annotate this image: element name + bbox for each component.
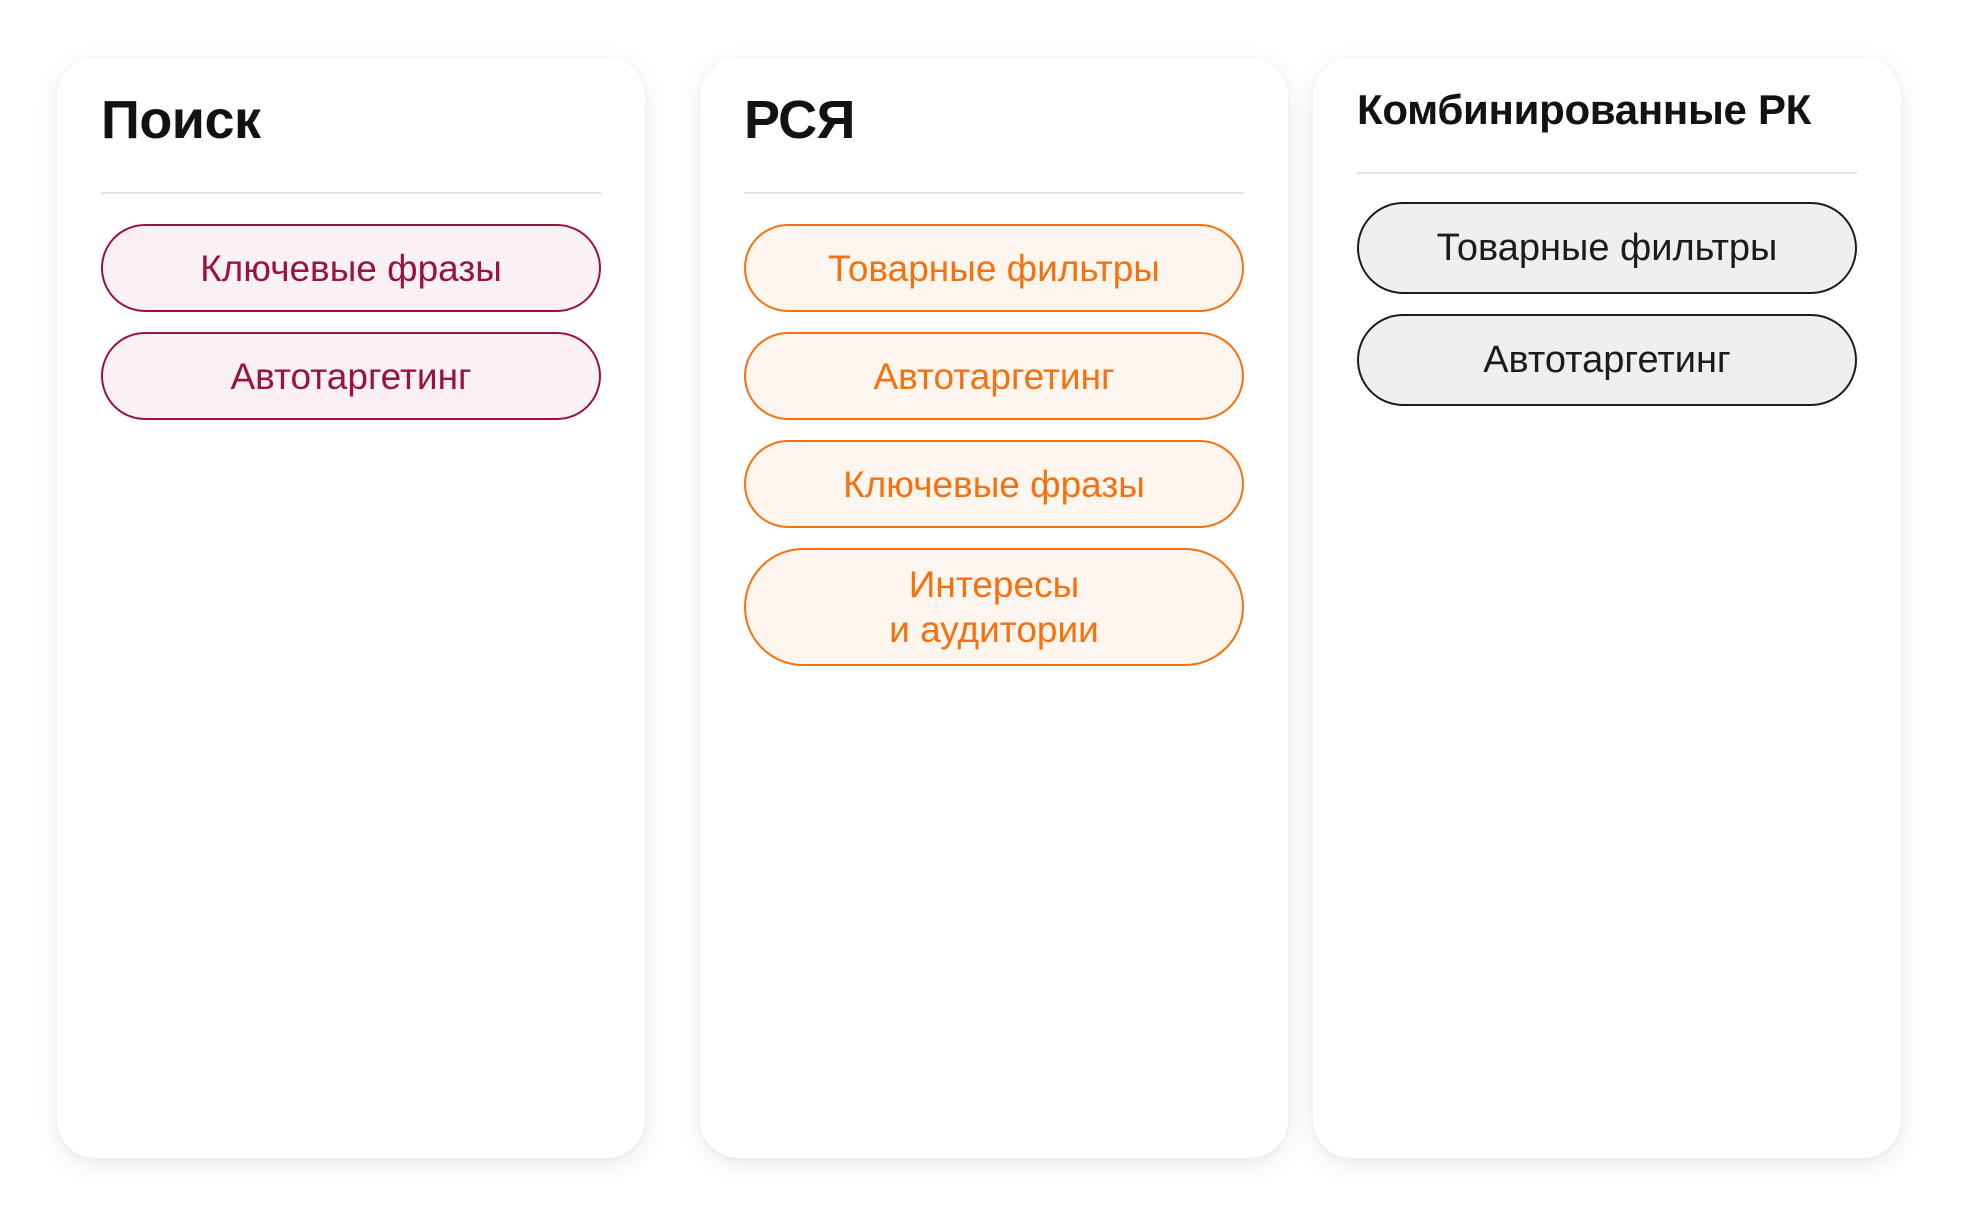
title-divider-combined [1357, 172, 1857, 174]
column-card-rsya: РСЯ Товарные фильтры Автотаргетинг Ключе… [700, 58, 1288, 1158]
pill-interests-and-audiences-rsya[interactable]: Интересы и аудитории [744, 548, 1244, 666]
card-inner-rsya: РСЯ Товарные фильтры Автотаргетинг Ключе… [744, 58, 1244, 1158]
pill-product-filters-combined[interactable]: Товарные фильтры [1357, 202, 1857, 294]
card-inner-combined: Комбинированные РК Товарные фильтры Авто… [1357, 58, 1857, 1158]
pill-keyword-phrases-search[interactable]: Ключевые фразы [101, 224, 601, 312]
column-title-combined: Комбинированные РК [1357, 58, 1857, 133]
comparison-board: Поиск Ключевые фразы Автотаргетинг РСЯ Т… [0, 0, 1966, 1218]
column-title-search: Поиск [101, 58, 601, 150]
column-card-combined: Комбинированные РК Товарные фильтры Авто… [1313, 58, 1901, 1158]
pill-list-rsya: Товарные фильтры Автотаргетинг Ключевые … [744, 224, 1244, 666]
pill-product-filters-rsya[interactable]: Товарные фильтры [744, 224, 1244, 312]
title-divider-rsya [744, 192, 1244, 194]
column-title-rsya: РСЯ [744, 58, 1244, 150]
pill-autotargeting-rsya[interactable]: Автотаргетинг [744, 332, 1244, 420]
pill-list-search: Ключевые фразы Автотаргетинг [101, 224, 601, 420]
column-card-search: Поиск Ключевые фразы Автотаргетинг [57, 58, 645, 1158]
pill-list-combined: Товарные фильтры Автотаргетинг [1357, 202, 1857, 406]
pill-autotargeting-search[interactable]: Автотаргетинг [101, 332, 601, 420]
title-divider-search [101, 192, 601, 194]
card-inner-search: Поиск Ключевые фразы Автотаргетинг [101, 58, 601, 1158]
pill-autotargeting-combined[interactable]: Автотаргетинг [1357, 314, 1857, 406]
pill-keyword-phrases-rsya[interactable]: Ключевые фразы [744, 440, 1244, 528]
